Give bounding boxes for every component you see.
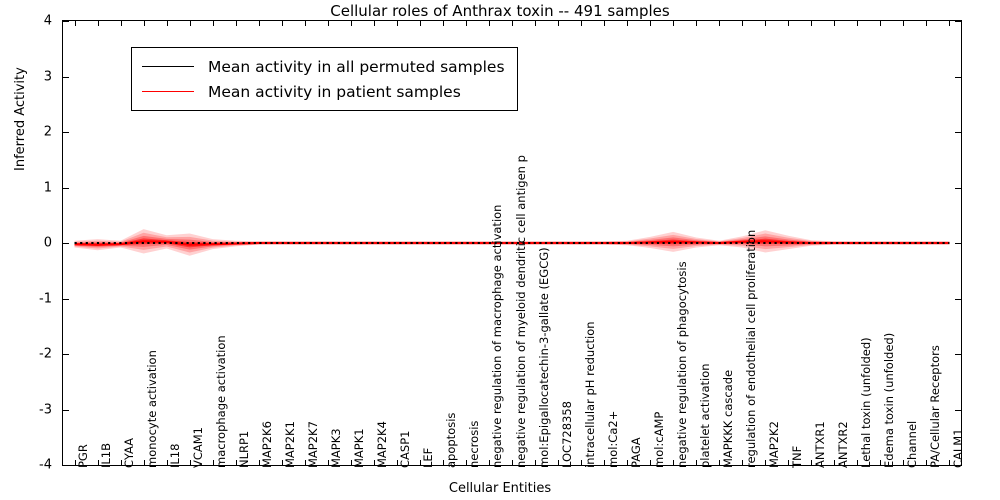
x-tick-label: negative regulation of myeloid dendritic… xyxy=(516,155,528,468)
x-tick-label: MAPK1 xyxy=(354,428,366,468)
y-tick-mark-right xyxy=(955,299,961,300)
x-tick-mark-top xyxy=(305,21,306,26)
x-tick-mark-top xyxy=(443,21,444,26)
x-tick-mark xyxy=(512,460,513,465)
x-tick-mark-top xyxy=(696,21,697,26)
x-tick-mark-top xyxy=(374,21,375,26)
x-tick-label: macrophage activation xyxy=(216,335,228,468)
x-tick-label: LEF xyxy=(423,448,435,468)
y-tick-mark xyxy=(63,243,69,244)
x-tick-mark-top xyxy=(512,21,513,26)
chart-title: Cellular roles of Anthrax toxin -- 491 s… xyxy=(0,2,1000,20)
x-tick-label: apoptosis xyxy=(446,413,458,468)
y-tick-mark-right xyxy=(955,132,961,133)
y-tick-label: 2 xyxy=(44,125,52,140)
x-tick-mark xyxy=(558,460,559,465)
x-tick-label: monocyte activation xyxy=(147,350,159,468)
legend-label-permuted: Mean activity in all permuted samples xyxy=(208,58,505,76)
x-tick-mark-top xyxy=(903,21,904,26)
x-tick-label: ANTXR2 xyxy=(838,421,850,468)
x-tick-mark-top xyxy=(535,21,536,26)
y-tick-label: -2 xyxy=(39,347,52,362)
x-tick-mark-top xyxy=(673,21,674,26)
x-tick-label: Lethal toxin (unfolded) xyxy=(861,337,873,468)
x-tick-label: Channel xyxy=(907,421,919,468)
y-tick-mark xyxy=(63,354,69,355)
x-tick-label: mol:Ca2+ xyxy=(608,411,620,468)
y-tick-label: 0 xyxy=(44,236,52,251)
x-tick-label: IL1B xyxy=(101,443,113,468)
x-tick-mark xyxy=(604,460,605,465)
x-tick-mark-top xyxy=(558,21,559,26)
x-tick-mark-top xyxy=(466,21,467,26)
x-tick-mark xyxy=(627,460,628,465)
x-tick-label: CYAA xyxy=(124,438,136,468)
y-tick-mark xyxy=(63,188,69,189)
y-tick-label: 3 xyxy=(44,69,52,84)
x-tick-label: MAPK3 xyxy=(331,428,343,468)
x-tick-label: LOC728358 xyxy=(562,401,574,468)
y-tick-mark-right xyxy=(955,354,961,355)
x-tick-mark-top xyxy=(236,21,237,26)
y-tick-mark xyxy=(63,21,69,22)
x-tick-label: PAGA xyxy=(631,437,643,468)
y-tick-mark-right xyxy=(955,21,961,22)
chart-figure: Cellular roles of Anthrax toxin -- 491 s… xyxy=(0,0,1000,500)
x-tick-label: mol:cAMP xyxy=(654,412,666,468)
x-tick-mark xyxy=(581,460,582,465)
x-tick-mark-top xyxy=(604,21,605,26)
x-tick-label: platelet activation xyxy=(700,363,712,468)
y-tick-mark xyxy=(63,410,69,411)
x-tick-mark-top xyxy=(834,21,835,26)
x-tick-mark-top xyxy=(880,21,881,26)
x-tick-mark-top xyxy=(167,21,168,26)
x-tick-label: PA/Cellular Receptors xyxy=(930,345,942,468)
plot-area: -4-3-2-101234 Inferred Activity Mean act… xyxy=(62,20,962,466)
x-tick-label: MAPKKK cascade xyxy=(723,370,735,468)
legend-entry-permuted: Mean activity in all permuted samples xyxy=(142,54,505,79)
x-tick-label: MAP2K1 xyxy=(285,421,297,468)
x-tick-mark-top xyxy=(489,21,490,26)
x-tick-label: VCAM1 xyxy=(193,427,205,468)
y-axis-label: Inferred Activity xyxy=(13,67,28,171)
x-tick-label: negative regulation of phagocytosis xyxy=(677,261,689,468)
x-tick-label: IL18 xyxy=(170,444,182,468)
x-tick-label: ANTXR1 xyxy=(815,421,827,468)
x-tick-mark-top xyxy=(420,21,421,26)
x-tick-mark-top xyxy=(75,21,76,26)
x-tick-label: Edema toxin (unfolded) xyxy=(884,333,896,468)
x-tick-mark-top xyxy=(397,21,398,26)
x-tick-mark-top xyxy=(351,21,352,26)
x-tick-label: CASP1 xyxy=(400,431,412,468)
x-tick-label: MAP2K2 xyxy=(769,421,781,468)
x-tick-mark-top xyxy=(213,21,214,26)
x-tick-mark-top xyxy=(144,21,145,26)
x-tick-label: mol:Epigallocatechin-3-gallate (EGCG) xyxy=(539,247,551,468)
y-tick-mark xyxy=(63,465,69,466)
x-tick-label: negative regulation of macrophage activa… xyxy=(492,205,504,468)
x-tick-mark-top xyxy=(719,21,720,26)
x-tick-mark-top xyxy=(581,21,582,26)
legend-entry-patient: Mean activity in patient samples xyxy=(142,79,505,104)
x-tick-mark xyxy=(535,460,536,465)
y-tick-label: 4 xyxy=(44,14,52,29)
x-tick-label: CALM1 xyxy=(953,428,965,468)
y-tick-label: 1 xyxy=(44,180,52,195)
x-tick-mark-top xyxy=(765,21,766,26)
x-tick-mark xyxy=(650,460,651,465)
x-tick-mark-top xyxy=(811,21,812,26)
y-tick-label: -4 xyxy=(39,458,52,473)
x-tick-label: MAP2K7 xyxy=(308,421,320,468)
x-tick-mark-top xyxy=(627,21,628,26)
y-tick-label: -1 xyxy=(39,291,52,306)
x-tick-mark-top xyxy=(98,21,99,26)
x-tick-mark-top xyxy=(650,21,651,26)
y-tick-mark xyxy=(63,77,69,78)
y-tick-label: -3 xyxy=(39,402,52,417)
legend-label-patient: Mean activity in patient samples xyxy=(208,83,461,101)
x-tick-label: regulation of endothelial cell prolifera… xyxy=(746,230,758,468)
x-tick-mark-top xyxy=(259,21,260,26)
y-tick-mark-right xyxy=(955,77,961,78)
x-tick-label: intracellular pH reduction xyxy=(585,321,597,468)
x-tick-label: TNF xyxy=(792,446,804,468)
legend-swatch-permuted xyxy=(142,66,194,67)
x-tick-mark-top xyxy=(328,21,329,26)
y-tick-mark xyxy=(63,299,69,300)
y-tick-mark-right xyxy=(955,410,961,411)
x-tick-mark-top xyxy=(926,21,927,26)
y-tick-mark xyxy=(63,132,69,133)
x-tick-mark-top xyxy=(282,21,283,26)
x-tick-mark-top xyxy=(788,21,789,26)
x-axis-label: Cellular Entities xyxy=(0,481,1000,496)
legend-swatch-patient xyxy=(142,91,194,92)
y-tick-mark-right xyxy=(955,188,961,189)
x-tick-label: NLRP1 xyxy=(239,431,251,468)
x-tick-label: MAP2K4 xyxy=(377,421,389,468)
x-tick-label: MAP2K6 xyxy=(262,421,274,468)
x-tick-label: necrosis xyxy=(469,421,481,468)
x-tick-mark-top xyxy=(190,21,191,26)
y-tick-mark-right xyxy=(955,243,961,244)
x-tick-mark-top xyxy=(857,21,858,26)
legend: Mean activity in all permuted samples Me… xyxy=(131,47,518,111)
x-tick-label: PGR xyxy=(78,444,90,468)
x-tick-mark-top xyxy=(742,21,743,26)
x-tick-mark-top xyxy=(121,21,122,26)
x-tick-mark-top xyxy=(949,21,950,26)
